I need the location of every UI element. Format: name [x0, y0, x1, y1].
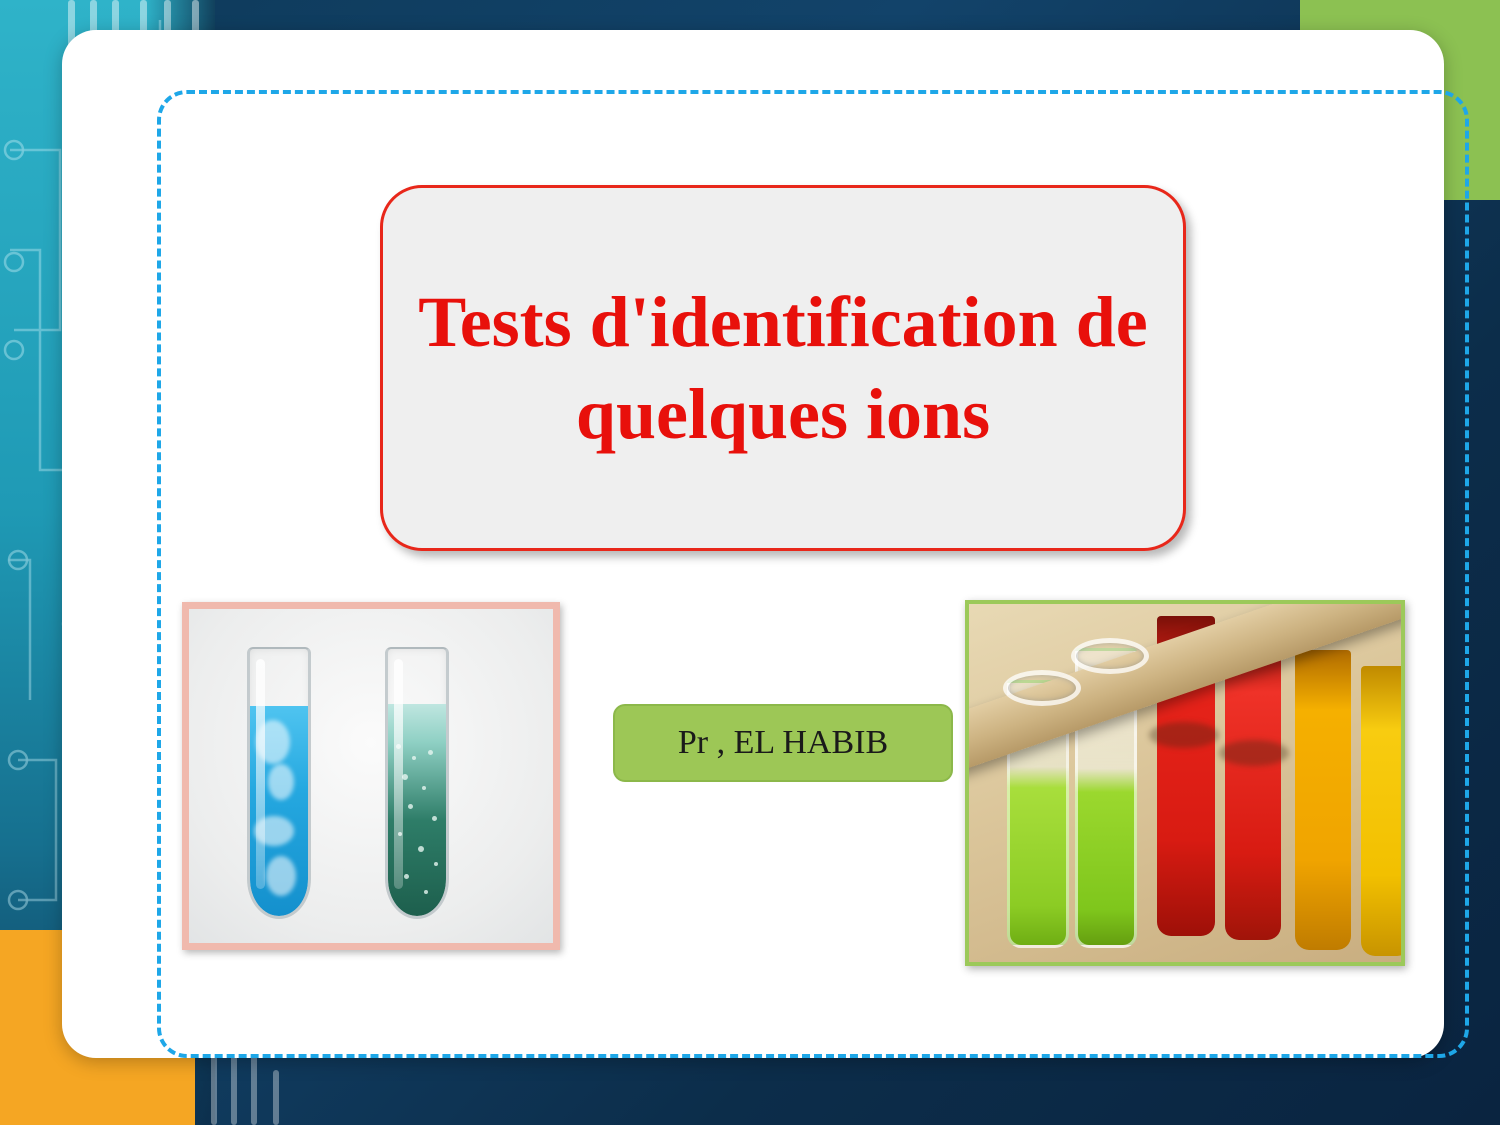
yellow-tube-1 — [1361, 666, 1405, 956]
title-box: Tests d'identification de quelques ions — [380, 185, 1186, 551]
slide-content-card: Tests d'identification de quelques ions … — [62, 30, 1444, 1058]
glass-wall — [385, 647, 449, 919]
green-precipitate-tube-illustration — [385, 647, 449, 919]
page-title: Tests d'identification de quelques ions — [383, 276, 1183, 460]
test-tube-rack-photo — [965, 600, 1405, 966]
author-label: Pr , EL HABIB — [678, 724, 888, 762]
photo-left-background — [189, 609, 553, 943]
slide-canvas: Tests d'identification de quelques ions … — [0, 0, 1500, 1125]
blue-precipitate-tube-illustration — [247, 647, 311, 919]
glass-wall — [247, 647, 311, 919]
tube-rim-2 — [1071, 638, 1149, 674]
orange-tube-1 — [1295, 650, 1351, 950]
author-box: Pr , EL HABIB — [613, 704, 953, 782]
two-test-tubes-photo — [182, 602, 560, 950]
tube-rim-1 — [1003, 670, 1081, 706]
